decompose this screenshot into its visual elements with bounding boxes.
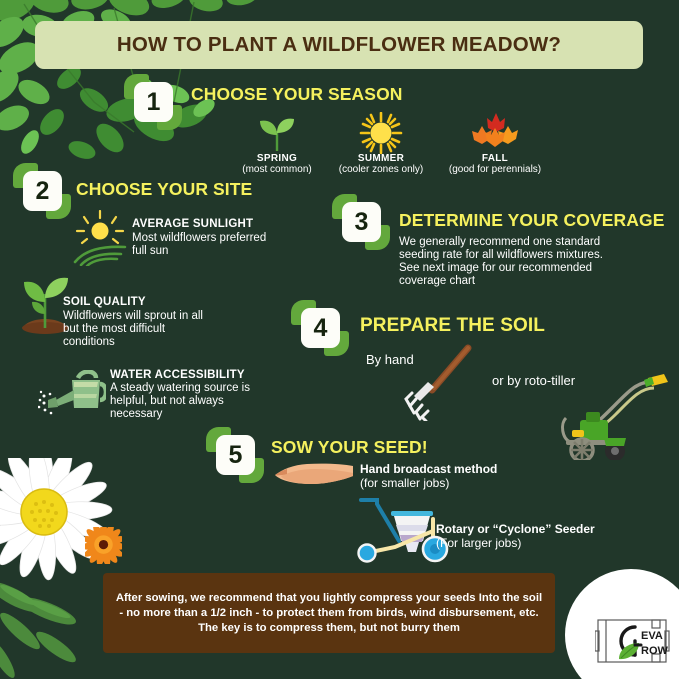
sow-method-note-spreader: (For larger jobs) (436, 536, 521, 550)
step-title-5: SOW YOUR SEED! (271, 437, 428, 458)
step-title-4: PREPARE THE SOIL (360, 315, 545, 337)
site-body-water-line1: A steady watering source is (110, 382, 250, 395)
infographic-canvas: HOW TO PLANT A WILDFLOWER MEADOW? 1 CHOO… (0, 0, 679, 679)
page-title-bar: HOW TO PLANT A WILDFLOWER MEADOW? (35, 21, 643, 69)
site-heading-water: WATER ACCESSIBILITY (110, 369, 245, 381)
site-body-soil-line3: conditions (63, 336, 115, 349)
sow-method-heading-hand: Hand broadcast method (360, 462, 497, 476)
season-note-spring: (most common) (237, 164, 317, 175)
site-body-soil-line2: but the most difficult (63, 323, 165, 336)
site-body-water-line3: necessary (110, 408, 162, 421)
geva-grow-logo: EVA ROW (595, 615, 671, 667)
site-body-sunlight-line2: full sun (132, 245, 168, 258)
rake-icon (404, 343, 476, 421)
footer-line-2: - no more than a 1/2 inch - to protect t… (119, 606, 538, 621)
step-number-5: 5 (216, 435, 255, 475)
step-number-2: 2 (23, 171, 62, 211)
maple-leaves-icon (466, 110, 524, 152)
step-badge-4: 4 (297, 305, 343, 351)
season-name-summer: SUMMER (341, 153, 421, 164)
season-name-spring: SPRING (237, 153, 317, 164)
footer-line-3: The key is to compress them, but not bur… (198, 621, 460, 636)
marigold-flower-decoration (85, 527, 122, 564)
site-body-sunlight-line1: Most wildflowers preferred (132, 232, 266, 245)
sun-icon (358, 112, 404, 154)
coverage-body-line1: We generally recommend one standard (399, 236, 600, 249)
page-title: HOW TO PLANT A WILDFLOWER MEADOW? (117, 33, 561, 57)
seedling-icon (256, 115, 298, 151)
footer-note-box: After sowing, we recommend that you ligh… (103, 573, 555, 653)
footer-line-1: After sowing, we recommend that you ligh… (116, 591, 542, 606)
season-note-summer: (cooler zones only) (331, 164, 431, 175)
coverage-body-line2: seeding rate for all wildflowers mixture… (399, 249, 603, 262)
sow-method-note-hand: (for smaller jobs) (360, 476, 449, 490)
roto-tiller-icon (552, 368, 672, 460)
site-heading-soil: SOIL QUALITY (63, 296, 146, 308)
watering-can-icon (38, 370, 106, 418)
site-body-soil-line1: Wildflowers will sprout in all (63, 310, 203, 323)
site-body-water-line2: helpful, but not always (110, 395, 224, 408)
step-number-1: 1 (134, 82, 173, 122)
sun-over-field-icon (71, 210, 129, 266)
step-number-3: 3 (342, 202, 381, 242)
step-badge-3: 3 (338, 199, 384, 245)
step-badge-1: 1 (130, 79, 176, 125)
sow-method-heading-spreader: Rotary or “Cyclone” Seeder (436, 522, 595, 536)
step-title-2: CHOOSE YOUR SITE (76, 179, 252, 200)
step-title-1: CHOOSE YOUR SEASON (191, 84, 403, 105)
step-number-4: 4 (301, 308, 340, 348)
season-name-fall: FALL (455, 153, 535, 164)
season-note-fall: (good for perennials) (440, 164, 550, 175)
open-hand-icon (273, 460, 357, 490)
coverage-body-line4: coverage chart (399, 275, 475, 288)
site-heading-sunlight: AVERAGE SUNLIGHT (132, 218, 253, 230)
logo-text-line2: ROW (641, 645, 669, 657)
step-badge-5: 5 (212, 432, 258, 478)
step-title-3: DETERMINE YOUR COVERAGE (399, 210, 664, 231)
logo-text-line1: EVA (641, 630, 663, 642)
step-badge-2: 2 (19, 168, 65, 214)
coverage-body-line3: See next image for our recommended (399, 262, 592, 275)
